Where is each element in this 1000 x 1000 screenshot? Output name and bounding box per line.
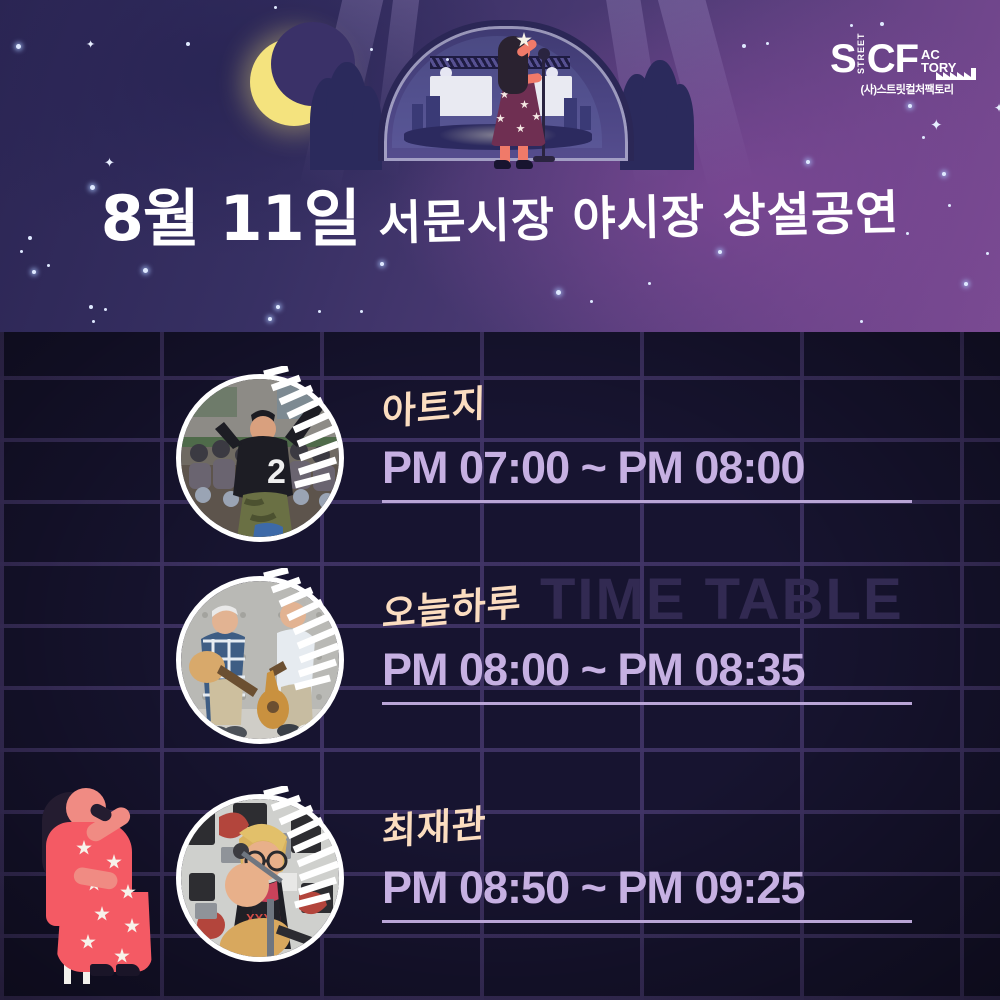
star: [880, 22, 884, 26]
star: [742, 44, 746, 48]
star: [922, 136, 925, 139]
stage-speaker: [580, 106, 591, 130]
event-date: 8월 11일: [101, 168, 360, 258]
logo-korean-name: (사)스트릿컬처팩토리: [830, 81, 984, 97]
star: [556, 290, 561, 295]
star: [590, 300, 593, 303]
sparkle-icon: ✦: [930, 118, 943, 133]
svg-text:2: 2: [267, 453, 286, 491]
artist-photo-image: 2: [181, 379, 339, 537]
star: [104, 308, 107, 311]
star: [860, 320, 863, 323]
performance-time: PM 07:00 ~ PM 08:00: [382, 442, 922, 494]
headline: 8월 11일 서문시장 야시장 상설공연: [0, 168, 1000, 258]
artist-info: 최재관 PM 08:50 ~ PM 09:25: [382, 802, 922, 923]
artist-photo[interactable]: XXX: [176, 794, 344, 962]
timetable-row[interactable]: XXX: [0, 788, 1000, 968]
tree-silhouette: [666, 84, 694, 170]
star: [318, 310, 321, 313]
star: [89, 305, 93, 309]
stage-speaker: [412, 104, 423, 130]
timetable-row[interactable]: 2: [0, 368, 1000, 548]
sparkle-icon: ✦: [994, 102, 1000, 114]
performance-time: PM 08:00 ~ PM 08:35: [382, 644, 922, 696]
artist-name: 아트지: [382, 373, 488, 436]
row-divider: [382, 500, 912, 503]
artist-photo-image: XXX: [181, 799, 339, 957]
star: [380, 262, 384, 266]
logo-s-letter: S: [830, 41, 855, 78]
scf-logo[interactable]: S STREET CF AC TORY (사)스트릿컬처팩토리: [830, 34, 984, 100]
factory-icon: [936, 64, 982, 80]
dancer-photo-graphic: 2: [181, 379, 339, 537]
artist-info: 아트지 PM 07:00 ~ PM 08:00: [382, 382, 922, 503]
star: [276, 305, 280, 309]
artist-info: 오늘하루 PM 08:00 ~ PM 08:35: [382, 584, 922, 705]
sparkle-icon: ✦: [86, 40, 95, 51]
row-divider: [382, 702, 912, 705]
stage-speaker: [426, 96, 440, 130]
duo-photo-graphic: [181, 581, 339, 739]
star: [370, 48, 373, 51]
star: [274, 6, 277, 9]
artist-name: 최재관: [382, 793, 488, 856]
event-subtitle: 서문시장 야시장 상설공연: [377, 173, 900, 253]
stage-speaker: [564, 98, 577, 130]
timetable-row[interactable]: 오늘하루 PM 08:00 ~ PM 08:35: [0, 570, 1000, 750]
event-poster: ✦ ✦ ✦ ✦ S STREET CF AC TORY (사)스트릿컬처팩토리 …: [0, 0, 1000, 1000]
performance-time: PM 08:50 ~ PM 09:25: [382, 862, 922, 914]
logo-cf-letters: CF: [867, 41, 918, 78]
singer-photo-graphic: XXX: [181, 799, 339, 957]
artist-name: 오늘하루: [382, 572, 523, 639]
microphone-icon: [538, 48, 550, 60]
star: [47, 264, 50, 267]
artist-photo-image: [181, 581, 339, 739]
night-sky-background: ✦ ✦ ✦ ✦ S STREET CF AC TORY (사)스트릿컬처팩토리 …: [0, 0, 1000, 332]
star: [143, 268, 148, 273]
star: [360, 310, 363, 313]
star: [964, 282, 968, 286]
star: [806, 160, 810, 164]
singer-illustration: [478, 30, 558, 170]
star: [766, 42, 769, 45]
artist-photo[interactable]: 2: [176, 374, 344, 542]
star: [268, 317, 272, 321]
star: [16, 44, 21, 49]
artist-photo[interactable]: [176, 576, 344, 744]
star: [648, 282, 651, 285]
microphone-base: [533, 156, 555, 162]
row-divider: [382, 920, 912, 923]
logo-street-text: STREET: [856, 40, 866, 74]
star: [908, 104, 912, 108]
star: [32, 270, 36, 274]
star: [92, 320, 95, 323]
star: [850, 24, 853, 27]
star: [186, 42, 190, 46]
star: [446, 58, 449, 61]
